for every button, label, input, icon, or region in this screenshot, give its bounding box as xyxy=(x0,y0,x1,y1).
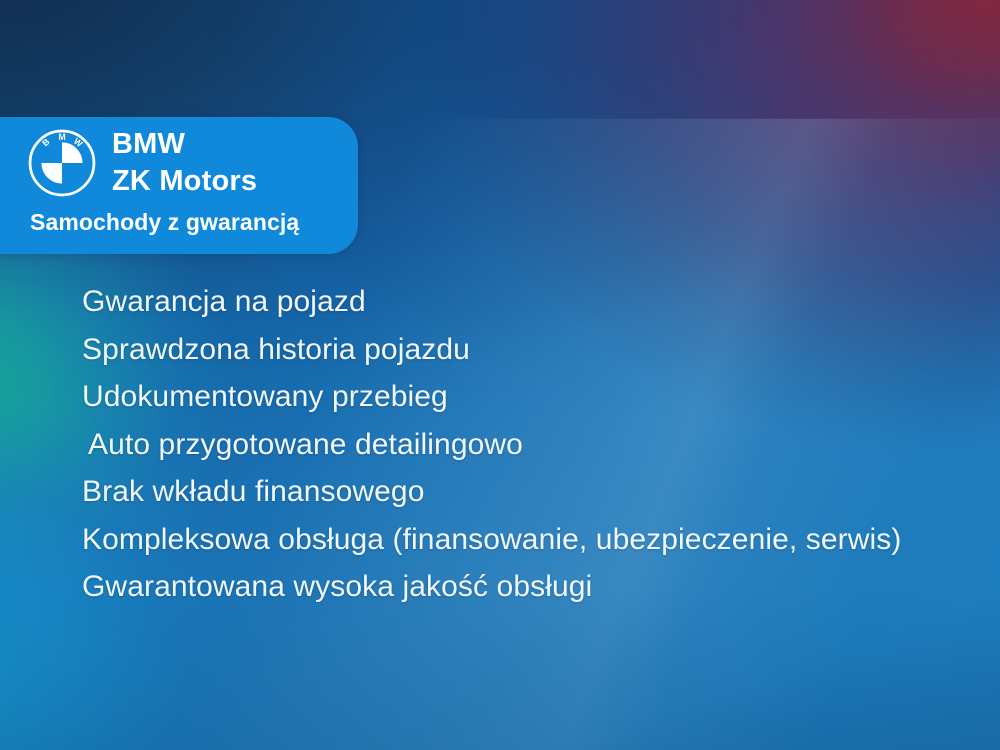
badge-title-brand: BMW xyxy=(112,130,257,159)
feature-list-item: Gwarantowana wysoka jakość obsługi xyxy=(82,563,962,611)
feature-list-item: Brak wkładu finansowego xyxy=(82,468,962,516)
feature-list-item: Auto przygotowane detailingowo xyxy=(82,421,962,469)
promo-banner: B M W BMW ZK Motors Samochody z gwarancj… xyxy=(0,0,1000,750)
bmw-roundel-icon: B M W xyxy=(28,129,96,197)
badge-title-group: BMW ZK Motors xyxy=(112,130,257,196)
badge-title-dealer: ZK Motors xyxy=(112,167,257,196)
svg-text:M: M xyxy=(58,132,65,142)
dealer-badge: B M W BMW ZK Motors Samochody z gwarancj… xyxy=(0,117,358,254)
feature-list-item: Sprawdzona historia pojazdu xyxy=(82,326,962,374)
feature-list-item: Gwarancja na pojazd xyxy=(82,278,962,326)
feature-list-item: Kompleksowa obsługa (finansowanie, ubezp… xyxy=(82,516,962,564)
badge-tagline: Samochody z gwarancją xyxy=(30,209,299,236)
badge-brand-row: B M W BMW ZK Motors xyxy=(28,129,257,197)
feature-list: Gwarancja na pojazd Sprawdzona historia … xyxy=(82,278,962,611)
feature-list-item: Udokumentowany przebieg xyxy=(82,373,962,421)
